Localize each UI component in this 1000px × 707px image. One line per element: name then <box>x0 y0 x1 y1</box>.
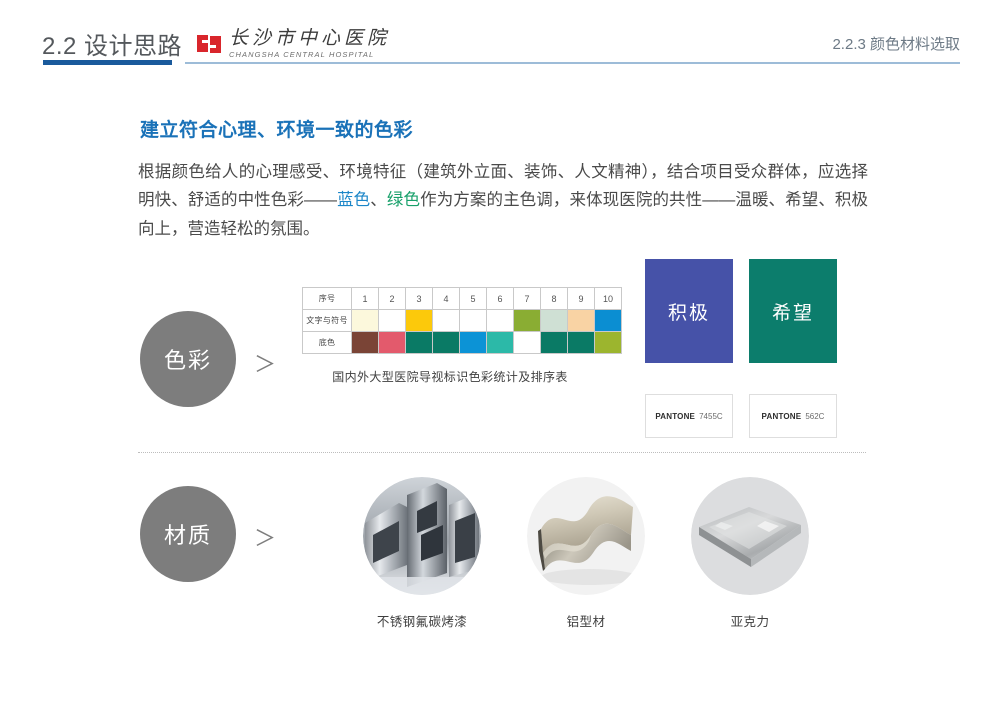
table-cell-number: 3 <box>406 288 433 310</box>
header-divider-line <box>185 62 960 64</box>
section-circle-color-label: 色彩 <box>164 343 212 375</box>
hospital-logo-text: 长沙市中心医院 CHANGSHA CENTRAL HOSPITAL <box>229 29 390 59</box>
swatch-background <box>514 332 541 354</box>
page-header: 2.2 设计思路 长沙市中心医院 CHANGSHA CENTRAL HOSPIT… <box>0 0 1000 72</box>
material-photo-acrylic <box>691 477 809 595</box>
chevron-right-icon-material: ＞ <box>254 521 276 553</box>
hospital-name-en: CHANGSHA CENTRAL HOSPITAL <box>229 51 390 59</box>
swatch-text-symbol <box>568 310 595 332</box>
swatch-text-symbol <box>406 310 433 332</box>
pantone-code-card-blue: PANTONE 7455C <box>645 394 733 438</box>
section-circle-color: 色彩 <box>140 311 236 407</box>
swatch-text-symbol <box>541 310 568 332</box>
material-photo-aluminium-profile <box>527 477 645 595</box>
content-headline: 建立符合心理、环境一致的色彩 <box>140 115 413 142</box>
material-photo-stainless-steel <box>363 477 481 595</box>
table-row-text-symbol: 文字与符号 <box>303 310 622 332</box>
row-label-text-symbol: 文字与符号 <box>303 310 352 332</box>
table-cell-number: 6 <box>487 288 514 310</box>
pantone-word: PANTONE <box>655 412 695 421</box>
hospital-logo: 长沙市中心医院 CHANGSHA CENTRAL HOSPITAL <box>196 26 390 62</box>
section-divider <box>138 452 866 453</box>
paragraph-separator: 、 <box>370 191 387 209</box>
material-label-acrylic: 亚克力 <box>660 611 840 630</box>
paragraph-highlight-green: 绿色 <box>387 191 420 209</box>
header-accent-bar <box>43 60 172 65</box>
pantone-swatch-green-label: 希望 <box>772 298 814 325</box>
pantone-swatch-green: 希望 <box>749 259 837 363</box>
material-label-stainless-steel: 不锈钢氟碳烤漆 <box>332 611 512 630</box>
table-cell-number: 10 <box>595 288 622 310</box>
pantone-code: 7455C <box>699 412 723 421</box>
swatch-background <box>406 332 433 354</box>
row-label-background: 底色 <box>303 332 352 354</box>
swatch-text-symbol <box>352 310 379 332</box>
swatch-background <box>433 332 460 354</box>
material-label-aluminium: 铝型材 <box>496 611 676 630</box>
swatch-background <box>487 332 514 354</box>
section-circle-material-label: 材质 <box>164 518 212 550</box>
pantone-word: PANTONE <box>762 412 802 421</box>
swatch-text-symbol <box>595 310 622 332</box>
row-label-index: 序号 <box>303 288 352 310</box>
content-paragraph: 根据颜色给人的心理感受、环境特征（建筑外立面、装饰、人文精神），结合项目受众群体… <box>138 158 868 243</box>
swatch-text-symbol <box>433 310 460 332</box>
table-cell-number: 7 <box>514 288 541 310</box>
pantone-swatch-blue-label: 积极 <box>668 298 710 325</box>
table-row-background: 底色 <box>303 332 622 354</box>
pantone-code-card-green: PANTONE 562C <box>749 394 837 438</box>
swatch-text-symbol <box>379 310 406 332</box>
table-cell-number: 9 <box>568 288 595 310</box>
table-cell-number: 2 <box>379 288 406 310</box>
color-statistics-table: 序号 1 2 3 4 5 6 7 8 9 10 文字与符号 <box>302 287 622 354</box>
hospital-logo-mark-icon <box>196 31 222 57</box>
chevron-right-icon-color: ＞ <box>254 347 276 379</box>
pantone-code: 562C <box>805 412 824 421</box>
swatch-background <box>541 332 568 354</box>
section-label: 2.2.3 颜色材料选取 <box>832 33 960 54</box>
swatch-background <box>379 332 406 354</box>
swatch-background <box>460 332 487 354</box>
hospital-name-cn: 长沙市中心医院 <box>229 29 390 48</box>
table-cell-number: 4 <box>433 288 460 310</box>
swatch-background <box>568 332 595 354</box>
table-cell-number: 5 <box>460 288 487 310</box>
table-cell-number: 8 <box>541 288 568 310</box>
section-circle-material: 材质 <box>140 486 236 582</box>
swatch-text-symbol <box>460 310 487 332</box>
swatch-text-symbol <box>487 310 514 332</box>
swatch-background <box>595 332 622 354</box>
color-table-caption: 国内外大型医院导视标识色彩统计及排序表 <box>302 368 598 385</box>
paragraph-highlight-blue: 蓝色 <box>337 191 370 209</box>
swatch-background <box>352 332 379 354</box>
table-row-index: 序号 1 2 3 4 5 6 7 8 9 10 <box>303 288 622 310</box>
pantone-swatch-blue: 积极 <box>645 259 733 363</box>
page-title: 2.2 设计思路 <box>42 26 182 61</box>
table-cell-number: 1 <box>352 288 379 310</box>
swatch-text-symbol <box>514 310 541 332</box>
